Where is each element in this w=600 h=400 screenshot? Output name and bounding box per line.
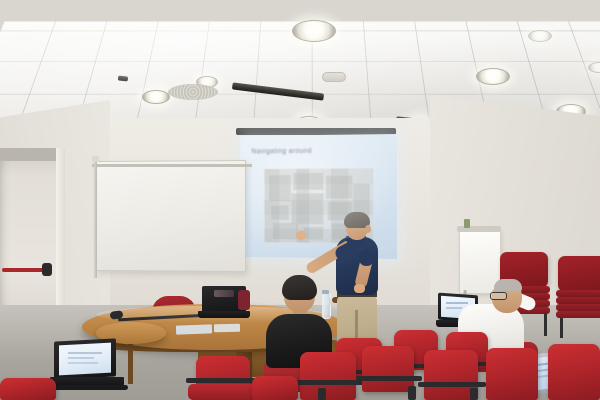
- handout-paper: [176, 324, 212, 334]
- glasses-icon: [490, 292, 507, 300]
- ceiling-downlight-icon: [142, 90, 170, 104]
- chair-leg: [318, 388, 326, 400]
- alcove-soffit: [0, 148, 62, 161]
- laptop-lid-logo-icon: [214, 290, 234, 297]
- presenter-sleeve: [359, 250, 374, 266]
- ceiling-downlight-icon: [476, 68, 510, 85]
- conference-room-photo: Navigating around: [0, 0, 600, 400]
- laptop-on-table: [198, 286, 248, 320]
- wall-alcove: [0, 148, 62, 323]
- lecture-chair: [252, 376, 298, 400]
- laptop-stand: [48, 385, 128, 390]
- chair-frame: [356, 376, 422, 381]
- ceiling-air-vent-icon: [168, 84, 218, 100]
- ceiling-downlight-icon: [528, 30, 552, 42]
- chair-leg: [408, 386, 416, 400]
- ceiling-air-vent-icon: [322, 72, 346, 82]
- alcove-jamb: [56, 148, 65, 324]
- lecture-chair: [0, 378, 56, 400]
- whiteboard: [95, 160, 246, 272]
- side-table-leg: [128, 338, 133, 384]
- chair-behind-laptop: [238, 290, 250, 310]
- whiteboard-mount: [92, 156, 99, 162]
- chair-leg: [470, 388, 478, 400]
- lecture-chair: [486, 348, 538, 400]
- whiteboard-rail: [92, 164, 252, 167]
- presenter-ear: [365, 225, 371, 233]
- presenter-hand-on-hip: [354, 284, 365, 293]
- attendee-hair: [494, 279, 522, 291]
- lecture-chair: [362, 346, 414, 392]
- handout-paper: [214, 324, 240, 332]
- red-wall-bar: [2, 268, 46, 272]
- lecture-chair: [548, 344, 600, 400]
- laptop-on-stand: [52, 340, 124, 388]
- chair-frame: [186, 378, 260, 383]
- chair-seat: [188, 384, 258, 400]
- ceiling-downlight-icon: [292, 20, 336, 42]
- slide-title: Navigating around: [252, 147, 367, 155]
- chair-frame: [294, 380, 364, 385]
- chair-frame: [418, 382, 486, 387]
- ceiling-linear-fixture: [118, 75, 128, 81]
- lecture-chair: [300, 352, 356, 400]
- flipchart-top-object: [464, 219, 470, 228]
- red-wall-bar-bracket: [42, 263, 52, 276]
- whiteboard-post: [94, 160, 97, 278]
- attendee-hair: [282, 275, 317, 300]
